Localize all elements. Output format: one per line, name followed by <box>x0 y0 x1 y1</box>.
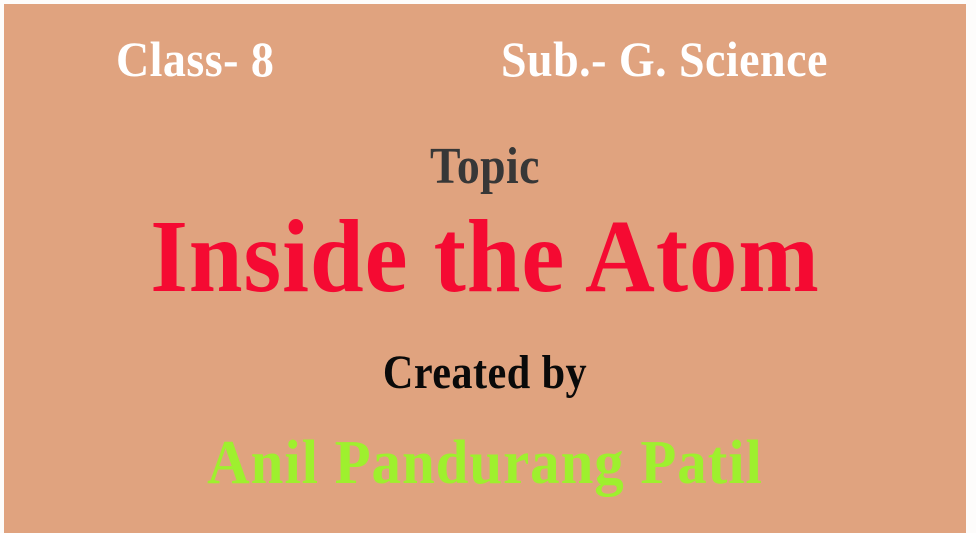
created-by-caption: Created by <box>62 349 909 397</box>
slide-canvas: Class- 8 Sub.- G. Science Topic Inside t… <box>4 4 966 533</box>
presentation-slide: Class- 8 Sub.- G. Science Topic Inside t… <box>0 0 976 533</box>
slide-title: Inside the Atom <box>38 205 933 309</box>
subject-label: Sub.- G. Science <box>501 34 828 84</box>
class-label: Class- 8 <box>116 34 274 84</box>
slide-header: Class- 8 Sub.- G. Science <box>4 34 966 96</box>
author-name: Anil Pandurang Patil <box>28 432 942 494</box>
topic-caption: Topic <box>62 141 909 193</box>
